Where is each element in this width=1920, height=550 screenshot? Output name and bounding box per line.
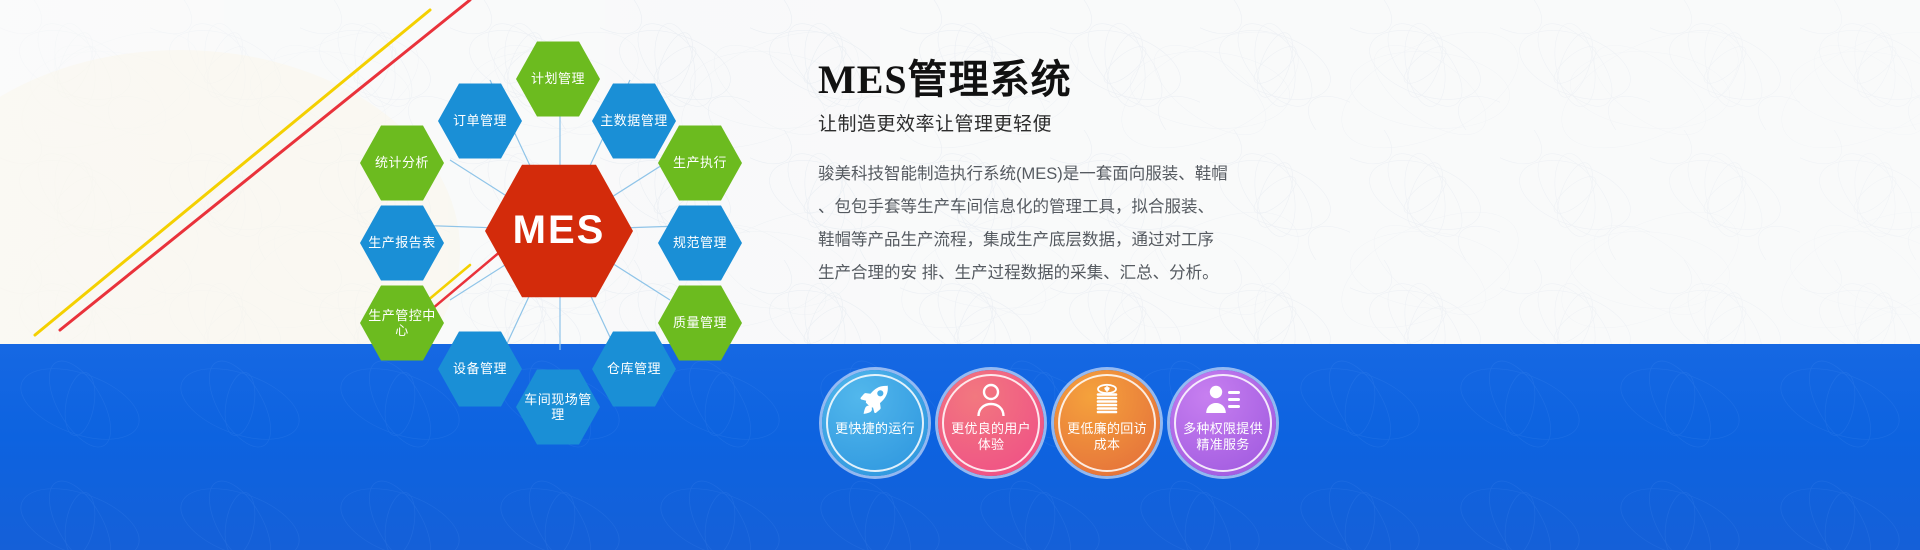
page-title: MES管理系统 — [818, 58, 1288, 103]
coins-icon — [1091, 382, 1123, 418]
feature-badges: 更快捷的运行 更优良的用户体验 更低廉的回访成本 — [822, 370, 1276, 476]
badge-better-user-experience[interactable]: 更优良的用户体验 — [938, 370, 1044, 476]
badge-label: 更快捷的运行 — [829, 421, 921, 437]
user-icon — [975, 382, 1007, 418]
badge-label: 更低廉的回访成本 — [1061, 421, 1153, 453]
hex-label: 生产报告表 — [364, 235, 440, 250]
badge-multiple-permissions[interactable]: 多种权限提供精准服务 — [1170, 370, 1276, 476]
badge-label: 更优良的用户体验 — [945, 421, 1037, 453]
copy-block: MES管理系统 让制造更效率让管理更轻便 骏美科技智能制造执行系统(MES)是一… — [818, 58, 1288, 290]
hex-label: 主数据管理 — [596, 113, 672, 128]
badge-faster-operation[interactable]: 更快捷的运行 — [822, 370, 928, 476]
rocket-icon — [858, 382, 892, 418]
description-line: 骏美科技智能制造执行系统(MES)是一套面向服装、鞋帽 — [818, 158, 1270, 191]
description-line: 、包包手套等生产车间信息化的管理工具，拟合服装、 — [818, 191, 1270, 224]
description-paragraph: 骏美科技智能制造执行系统(MES)是一套面向服装、鞋帽 、包包手套等生产车间信息… — [818, 158, 1270, 290]
hex-label-center: MES — [509, 207, 610, 254]
mes-hexagon-diagram: MES 计划管理 订单管理 主数据管理 统计分析 生产执行 生产报告表 规范管理… — [330, 20, 790, 440]
hex-label: 规范管理 — [669, 235, 731, 250]
badge-label: 多种权限提供精准服务 — [1177, 421, 1269, 453]
mes-banner: MES 计划管理 订单管理 主数据管理 统计分析 生产执行 生产报告表 规范管理… — [0, 0, 1920, 550]
hex-label: 质量管理 — [669, 315, 731, 330]
hex-label: 统计分析 — [371, 155, 433, 170]
hex-label: 生产执行 — [669, 155, 731, 170]
badge-lower-revisit-cost[interactable]: 更低廉的回访成本 — [1054, 370, 1160, 476]
hex-label: 计划管理 — [527, 71, 589, 86]
hex-label: 订单管理 — [449, 113, 511, 128]
hex-label: 设备管理 — [449, 361, 511, 376]
hex-label: 仓库管理 — [603, 361, 665, 376]
description-line: 生产合理的安 排、生产过程数据的采集、汇总、分析。 — [818, 257, 1270, 290]
user-list-icon — [1205, 382, 1241, 418]
hex-label: 车间现场管理 — [516, 392, 600, 423]
hex-label: 生产管控中心 — [360, 308, 444, 339]
page-subtitle: 让制造更效率让管理更轻便 — [818, 109, 1288, 136]
description-line: 鞋帽等产品生产流程，集成生产底层数据，通过对工序 — [818, 224, 1270, 257]
